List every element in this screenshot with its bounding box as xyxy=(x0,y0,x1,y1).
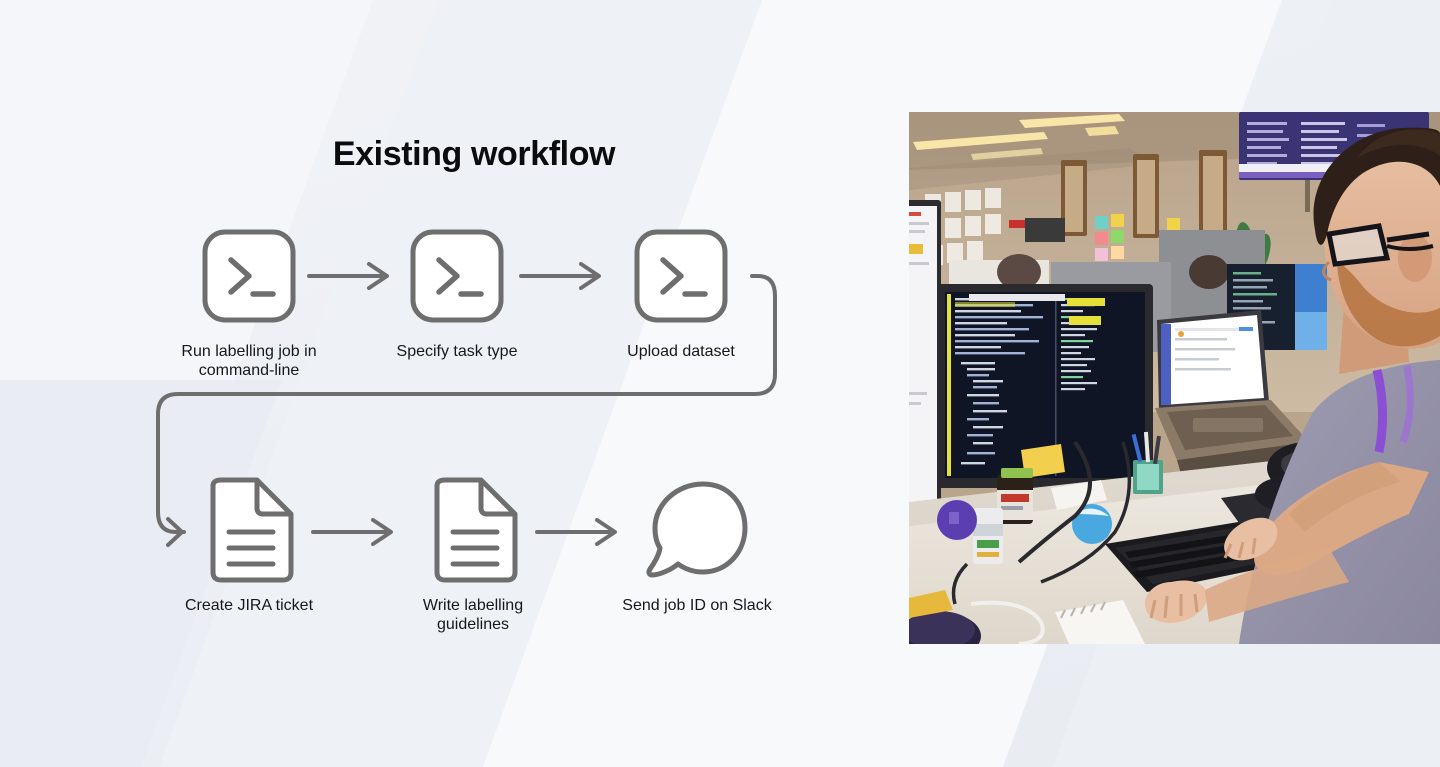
office-photo-illustration xyxy=(909,112,1440,644)
node-label: Write labelling guidelines xyxy=(378,596,568,634)
node-create-jira-ticket[interactable]: Create JIRA ticket xyxy=(154,478,344,615)
document-icon-wrap xyxy=(378,478,568,582)
node-label: Send job ID on Slack xyxy=(602,596,792,615)
node-specify-task-type[interactable]: Specify task type xyxy=(362,224,552,361)
node-label: Upload dataset xyxy=(586,342,776,361)
terminal-icon xyxy=(633,228,729,324)
speech-bubble-icon-wrap xyxy=(602,478,792,582)
terminal-icon xyxy=(201,228,297,324)
document-icon-wrap xyxy=(154,478,344,582)
office-photo xyxy=(909,112,1440,644)
document-icon xyxy=(203,476,295,584)
connector-upload-to-jira xyxy=(0,0,948,767)
document-icon xyxy=(427,476,519,584)
node-label: Specify task type xyxy=(362,342,552,361)
terminal-icon-wrap xyxy=(586,224,776,328)
terminal-icon-wrap xyxy=(362,224,552,328)
speech-bubble-icon xyxy=(645,478,749,582)
node-send-job-id[interactable]: Send job ID on Slack xyxy=(602,478,792,615)
slide-canvas: Existing workflow Run labelling job in c… xyxy=(0,0,1440,767)
workflow-diagram: Run labelling job in command-line Specif… xyxy=(0,0,948,767)
node-upload-dataset[interactable]: Upload dataset xyxy=(586,224,776,361)
node-write-labelling-guidelines[interactable]: Write labelling guidelines xyxy=(378,478,568,634)
node-label: Create JIRA ticket xyxy=(154,596,344,615)
terminal-icon xyxy=(409,228,505,324)
node-run-labelling-job[interactable]: Run labelling job in command-line xyxy=(154,224,344,380)
node-label: Run labelling job in command-line xyxy=(154,342,344,380)
terminal-icon-wrap xyxy=(154,224,344,328)
